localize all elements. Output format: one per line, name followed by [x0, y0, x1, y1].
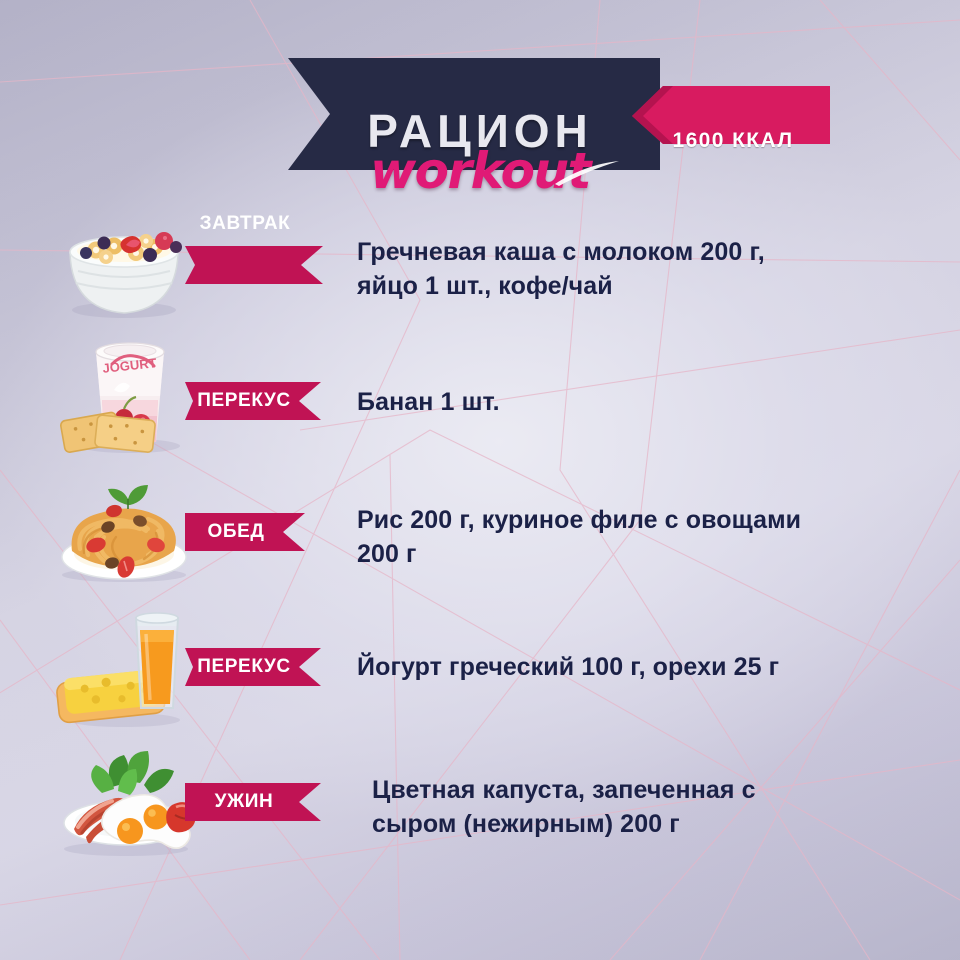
meal-description: Цветная капуста, запеченная с сыром (неж…	[372, 773, 932, 841]
yogurt-crackers-icon: JOGURT	[52, 330, 202, 450]
meal-description-line: Банан 1 шт.	[357, 385, 917, 419]
meal-description: Рис 200 г, куриное филе с овощами 200 г	[357, 503, 917, 571]
meal-label-ribbon	[185, 246, 323, 284]
eggs-bacon-plate-icon	[52, 745, 202, 865]
meal-description: Йогурт греческий 100 г, орехи 25 г	[357, 650, 917, 684]
meal-row-lunch: ОБЕД Рис 200 г, куриное филе с овощами 2…	[0, 475, 960, 595]
meal-row-dinner: УЖИН Цветная капуста, запеченная с сыром…	[0, 745, 960, 865]
meal-description-line: Цветная капуста, запеченная с	[372, 773, 932, 807]
meal-row-snack-1: JOGURT	[0, 330, 960, 450]
meal-description-line: сыром (нежирным) 200 г	[372, 807, 932, 841]
meal-description-line: Йогурт греческий 100 г, орехи 25 г	[357, 650, 917, 684]
spaghetti-plate-icon	[52, 475, 202, 595]
cereal-bowl-icon	[52, 205, 202, 325]
meal-description: Гречневая каша с молоком 200 г, яйцо 1 ш…	[357, 235, 917, 303]
calorie-badge: 1600 ККАЛ	[648, 130, 818, 151]
poster-header: РАЦИОН 1600 ККАЛ workout	[0, 48, 960, 178]
meal-description-line: Рис 200 г, куриное филе с овощами	[357, 503, 917, 537]
meal-description: Банан 1 шт.	[357, 385, 917, 419]
meal-row-breakfast: ЗАВТРАК Гречневая каша с молоком 200 г, …	[0, 205, 960, 325]
meal-label-text: УЖИН	[185, 783, 303, 821]
juice-cheese-toast-icon	[52, 600, 202, 720]
meal-description-line: Гречневая каша с молоком 200 г,	[357, 235, 917, 269]
swoosh-icon	[553, 160, 623, 188]
meal-label-text: ЗАВТРАК	[185, 205, 305, 243]
meal-description-line: 200 г	[357, 537, 917, 571]
meal-description-line: яйцо 1 шт., кофе/чай	[357, 269, 917, 303]
meal-label-text: ОБЕД	[185, 513, 287, 551]
diet-plan-poster: РАЦИОН 1600 ККАЛ workout	[0, 0, 960, 960]
meal-label-text: ПЕРЕКУС	[185, 648, 303, 686]
meal-label-text: ПЕРЕКУС	[185, 382, 303, 420]
meal-row-snack-2: ПЕРЕКУС Йогурт греческий 100 г, орехи 25…	[0, 600, 960, 720]
